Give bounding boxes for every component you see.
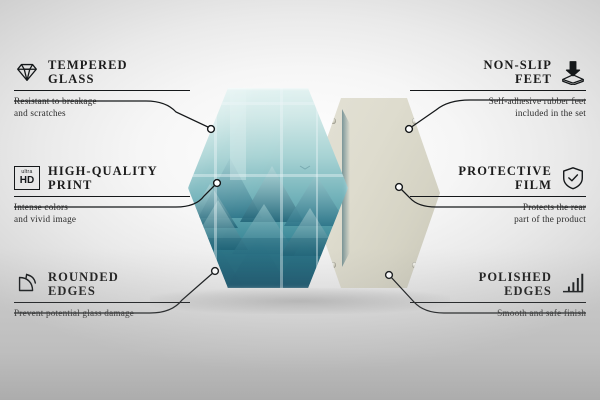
divider: [14, 302, 190, 303]
rounded-corner-icon: [14, 271, 40, 297]
divider: [14, 90, 190, 91]
feature-heading: ultra HD HIGH-QUALITY PRINT: [14, 164, 190, 192]
feature-title-line2: EDGES: [479, 284, 552, 298]
feature-polished-edges[interactable]: POLISHED EDGES Smooth and safe finish: [410, 270, 586, 319]
ultra-hd-icon: ultra HD: [14, 166, 40, 190]
feature-title-line2: EDGES: [48, 284, 119, 298]
divider: [410, 302, 586, 303]
diamond-icon: [14, 59, 40, 85]
press-down-pad-icon: [560, 59, 586, 85]
ultra-hd-main-label: HD: [20, 176, 34, 186]
feature-rounded-edges[interactable]: ROUNDED EDGES Prevent potential glass da…: [14, 270, 190, 319]
feature-description: Smooth and safe finish: [410, 307, 586, 319]
feature-tempered-glass[interactable]: TEMPERED GLASS Resistant to breakage and…: [14, 58, 190, 119]
rubber-foot: [330, 262, 336, 268]
feature-title-line2: FILM: [458, 178, 552, 192]
feature-description: Intense colors and vivid image: [14, 201, 190, 225]
feature-heading: ROUNDED EDGES: [14, 270, 190, 298]
feature-title-line2: FEET: [483, 72, 552, 86]
feature-title-line1: PROTECTIVE: [458, 164, 552, 178]
feature-description: Self-adhesive rubber feet included in th…: [410, 95, 586, 119]
feature-title: POLISHED EDGES: [479, 270, 552, 298]
divider: [410, 196, 586, 197]
hatched-triangle-icon: [560, 271, 586, 297]
feature-protective-film[interactable]: PROTECTIVE FILM Protects the rear part o…: [410, 164, 586, 225]
feature-title-line1: ROUNDED: [48, 270, 119, 284]
feature-title-line1: POLISHED: [479, 270, 552, 284]
product-group: [170, 88, 440, 303]
feature-title-line1: TEMPERED: [48, 58, 128, 72]
feature-heading: TEMPERED GLASS: [14, 58, 190, 86]
feature-description: Resistant to breakage and scratches: [14, 95, 190, 119]
shield-check-icon: [560, 165, 586, 191]
feature-description: Protects the rear part of the product: [410, 201, 586, 225]
feature-title-line2: GLASS: [48, 72, 128, 86]
feature-title: ROUNDED EDGES: [48, 270, 119, 298]
divider: [410, 90, 586, 91]
feature-title: NON-SLIP FEET: [483, 58, 552, 86]
feature-title-line1: NON-SLIP: [483, 58, 552, 72]
divider: [14, 196, 190, 197]
feature-title-line1: HIGH-QUALITY: [48, 164, 158, 178]
feature-title: HIGH-QUALITY PRINT: [48, 164, 158, 192]
printed-glass-hexagon: [188, 88, 348, 288]
feature-title: TEMPERED GLASS: [48, 58, 128, 86]
rubber-foot: [330, 118, 336, 124]
infographic-canvas: TEMPERED GLASS Resistant to breakage and…: [0, 0, 600, 400]
glass-edge-highlight: [188, 88, 348, 288]
feature-description: Prevent potential glass damage: [14, 307, 190, 319]
feature-high-quality-print[interactable]: ultra HD HIGH-QUALITY PRINT Intense colo…: [14, 164, 190, 225]
feature-title-line2: PRINT: [48, 178, 158, 192]
feature-heading: PROTECTIVE FILM: [410, 164, 586, 192]
feature-title: PROTECTIVE FILM: [458, 164, 552, 192]
feature-heading: NON-SLIP FEET: [410, 58, 586, 86]
feature-heading: POLISHED EDGES: [410, 270, 586, 298]
rubber-foot: [412, 262, 418, 268]
feature-non-slip-feet[interactable]: NON-SLIP FEET Self-adhesive rubber feet …: [410, 58, 586, 119]
